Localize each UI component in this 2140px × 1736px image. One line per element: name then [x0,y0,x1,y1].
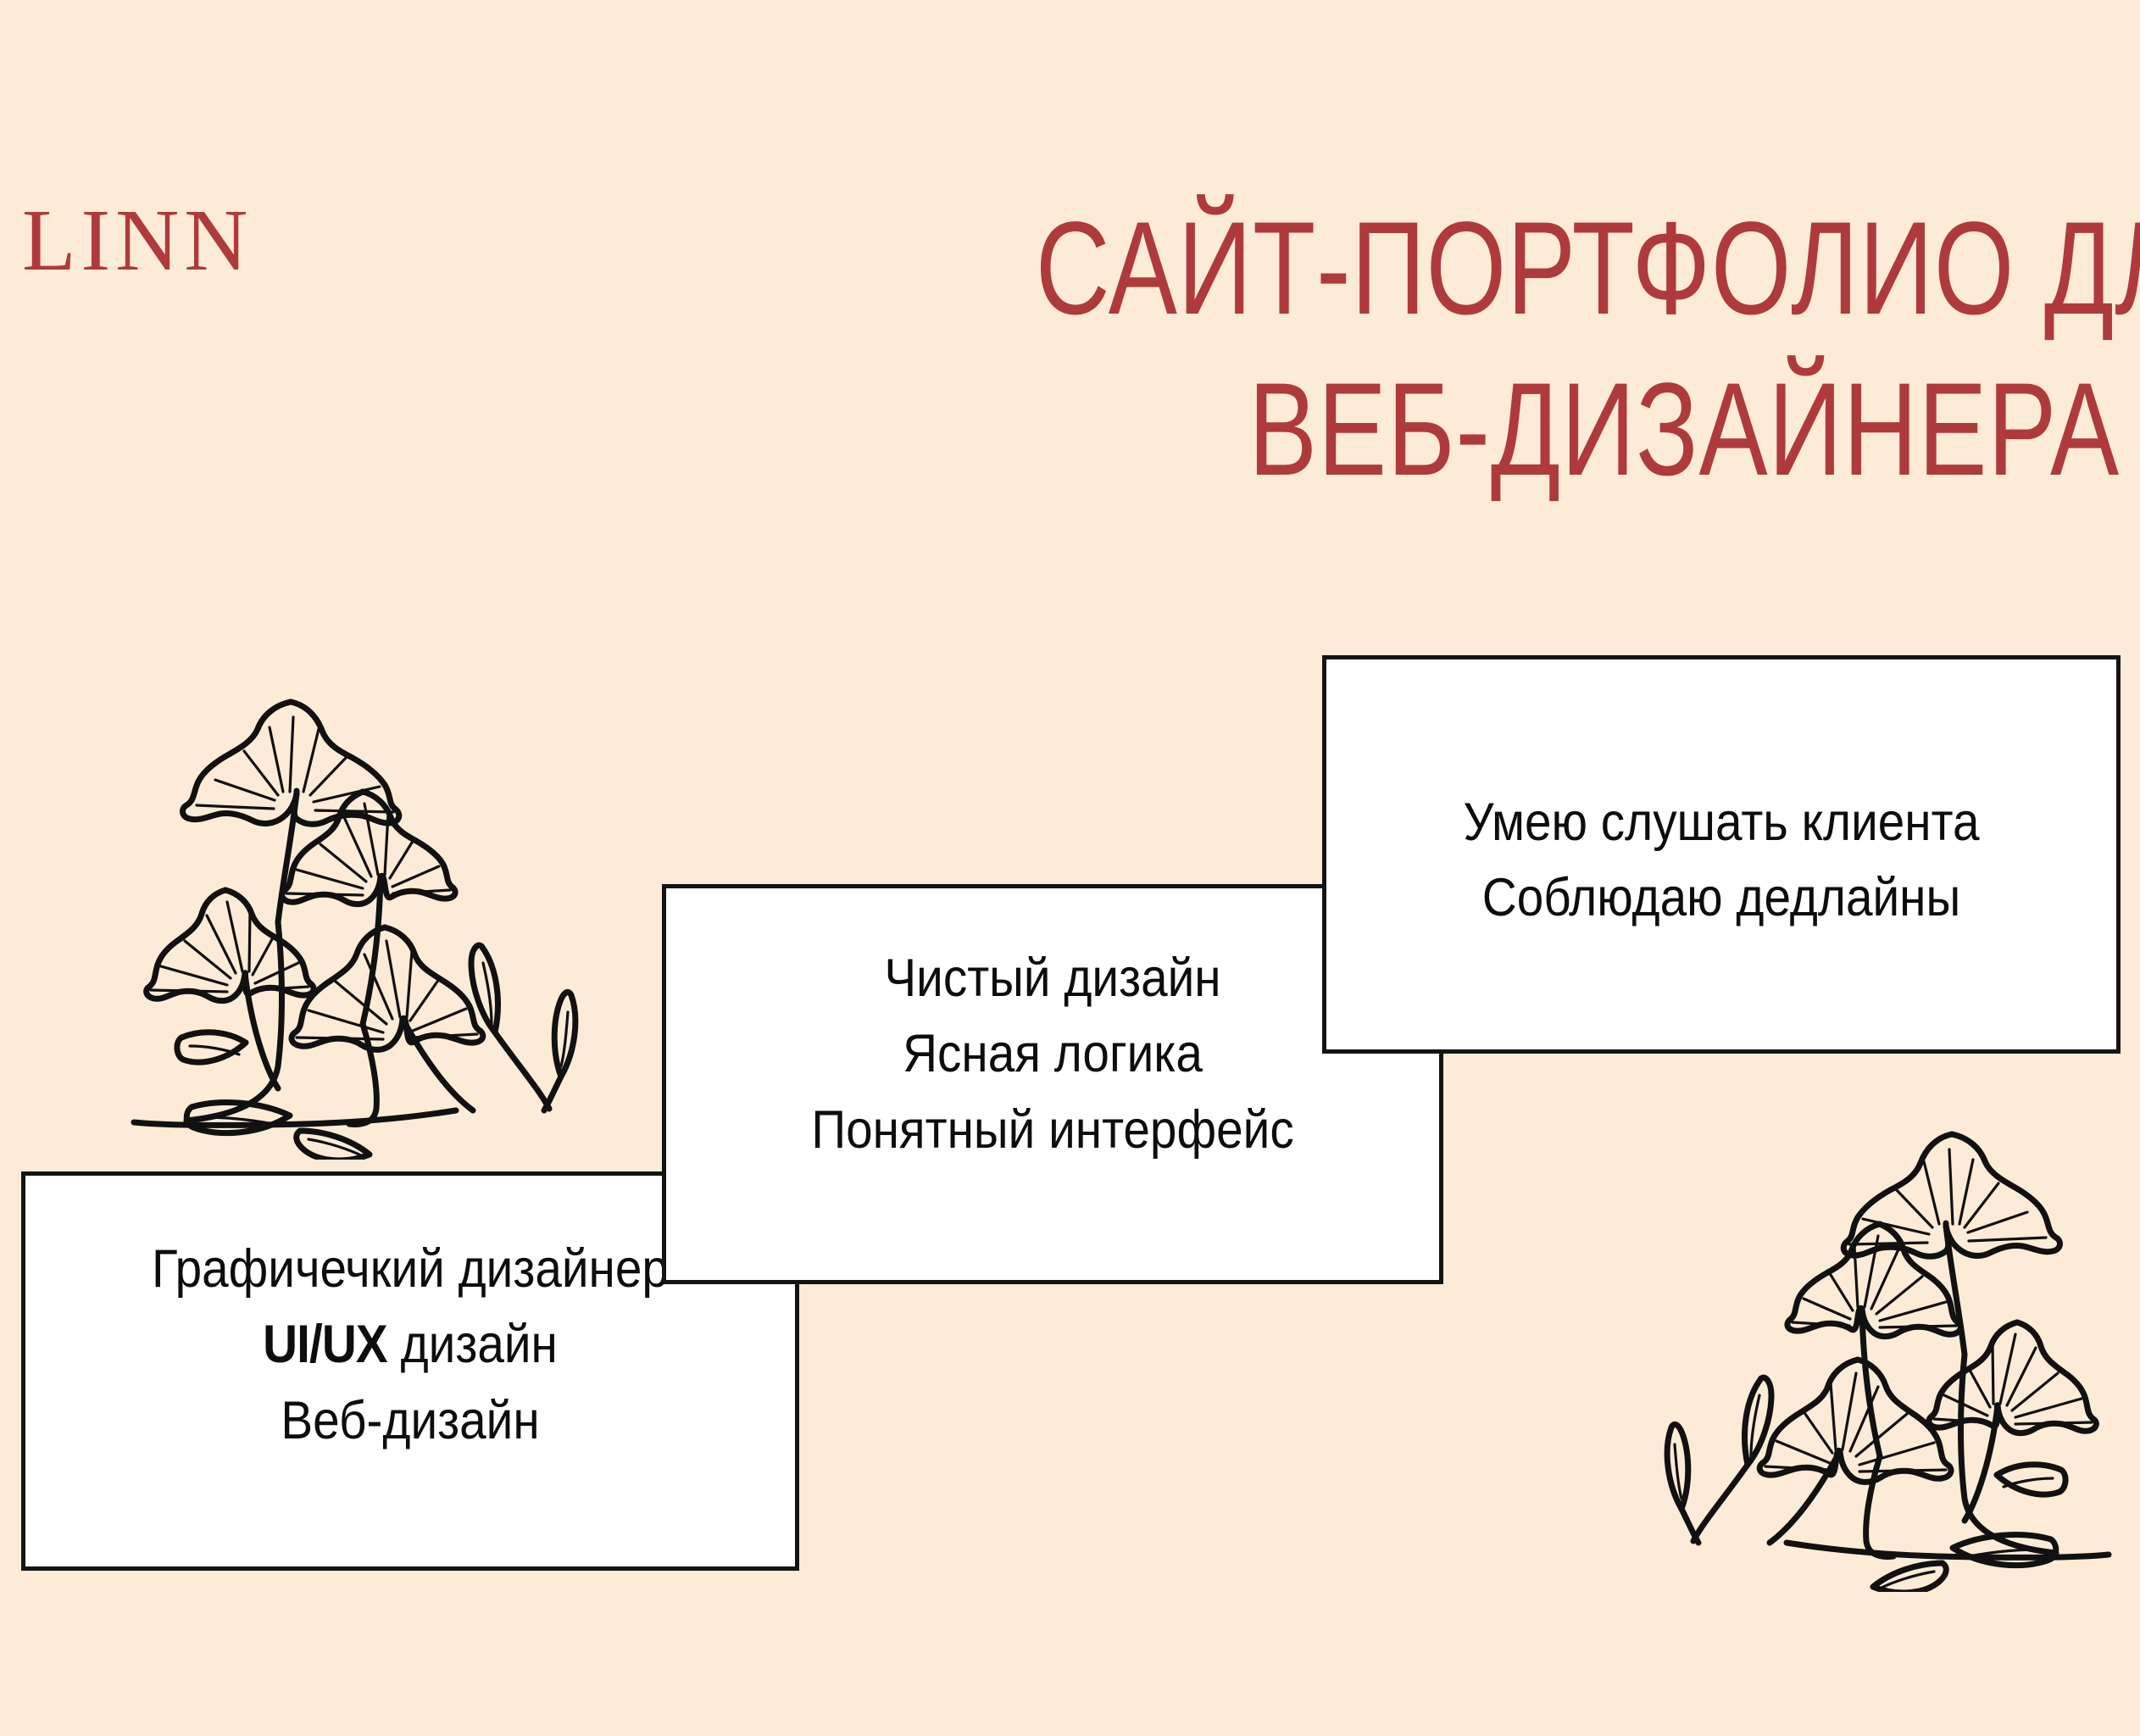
info-card-skills-line-3: Веб-дизайн [64,1383,756,1459]
info-card-soft-skills-line-2: Соблюдаю дедлайны [1366,860,2077,936]
page-title-line-2: ВЕБ-ДИЗАЙНЕРА [1036,349,2120,510]
uiux-label: UI/UX [263,1315,387,1374]
slide-canvas: LINN САЙТ-ПОРТФОЛИО ДЛЯ ВЕБ-ДИЗАЙНЕРА [0,0,2140,1736]
page-title: САЙТ-ПОРТФОЛИО ДЛЯ ВЕБ-ДИЗАЙНЕРА [1036,188,2120,511]
info-card-principles-line-1: Чистый дизайн [705,941,1401,1016]
info-card-principles-line-3: Понятный интерфейс [705,1093,1401,1168]
ginkgo-branch-icon [1634,1100,2134,1592]
info-card-soft-skills-text: Умею слушать клиента Соблюдаю дедлайны [1366,785,2077,937]
info-card-skills-line-2: UI/UX дизайн [64,1307,756,1383]
info-card-soft-skills-line-1: Умею слушать клиента [1366,785,2077,860]
info-card-skills-text: Графичечкий дизайнер UI/UX дизайн Веб-ди… [64,1232,756,1459]
page-title-line-1: САЙТ-ПОРТФОЛИО ДЛЯ [1036,188,2120,349]
info-card-principles-line-2: Ясная логика [705,1016,1401,1092]
brand-logo: LINN [22,197,253,285]
info-card-soft-skills: Умею слушать клиента Соблюдаю дедлайны [1322,655,2121,1054]
info-card-skills-line-1: Графичечкий дизайнер [64,1232,756,1307]
uiux-suffix: дизайн [387,1315,558,1374]
ginkgo-branch-icon [108,668,609,1160]
info-card-principles-text: Чистый дизайн Ясная логика Понятный инте… [705,941,1401,1168]
